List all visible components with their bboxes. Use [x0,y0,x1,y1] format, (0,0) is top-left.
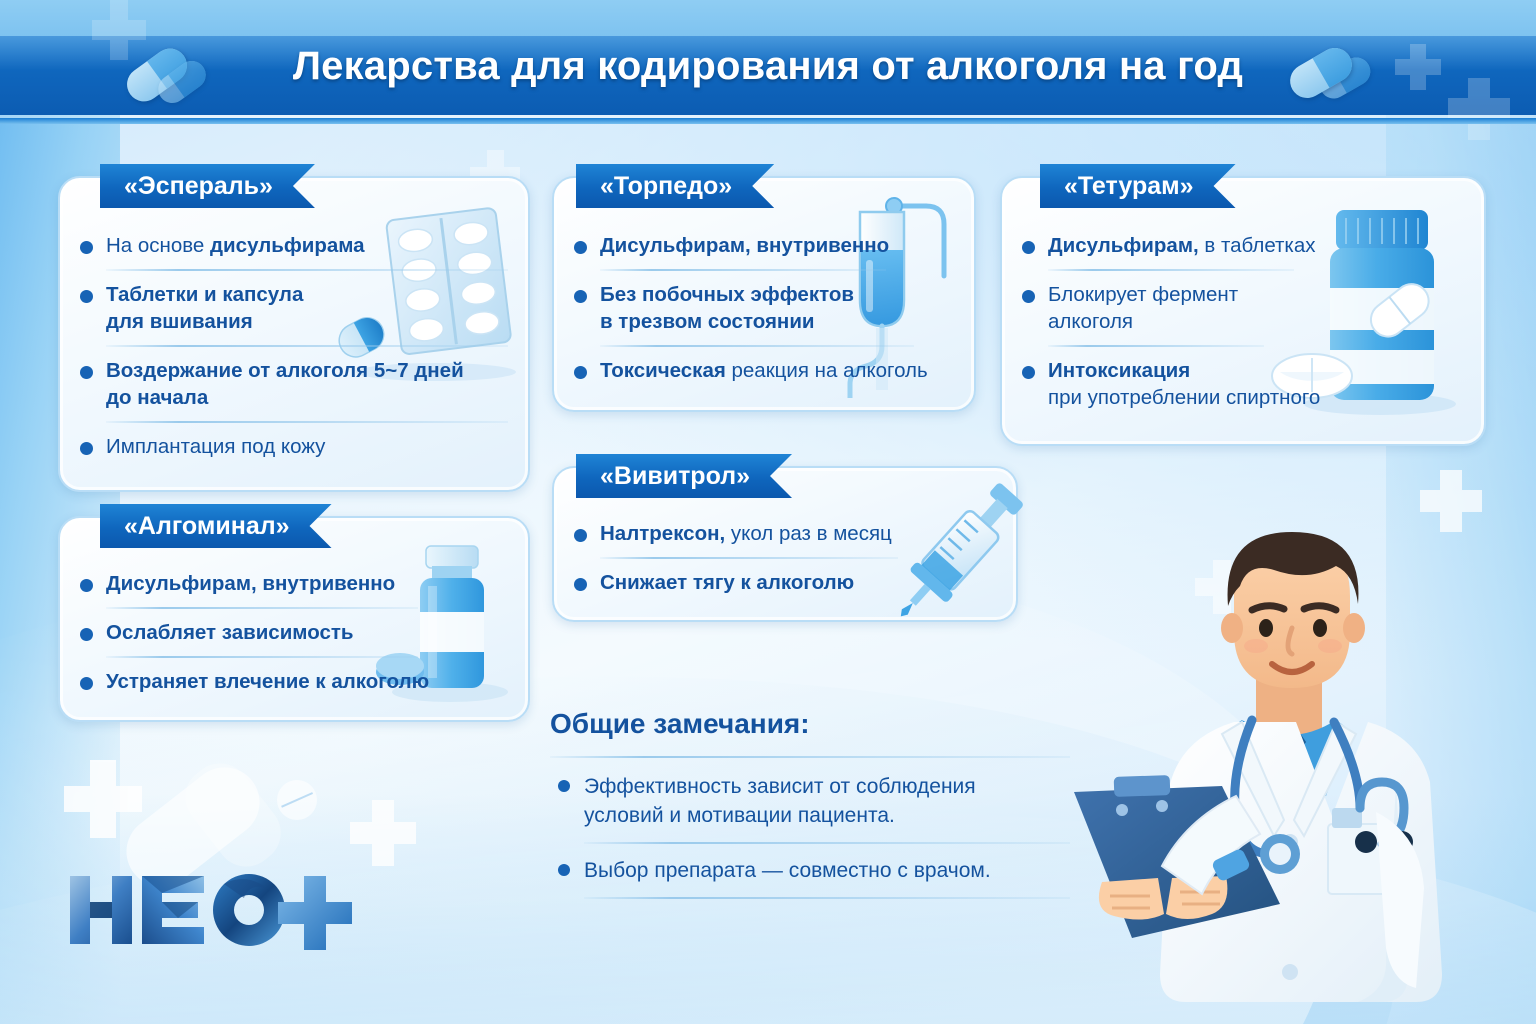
list-item: Интоксикацияпри употреблении спиртного [1002,357,1484,411]
list-item-text: Токсическая реакция на алкоголь [600,359,928,382]
cross-icon [1420,470,1482,532]
list-item: Токсическая реакция на алкоголь [554,357,974,384]
card-esperal: «Эспераль» На основе дисульфирама Таблет… [58,176,530,492]
list-item: Эффективность зависит от соблюденияуслов… [550,772,1070,830]
list-item-text: Снижает тягу к алкоголю [600,571,854,594]
divider [1048,345,1264,347]
bullet-dot [1022,241,1035,254]
cross-icon [350,800,416,866]
notes-item-text: Выбор препарата — совместно с врачом. [584,859,991,882]
divider [106,269,508,271]
card-title-esperal: «Эспераль» [100,164,315,208]
bullet-dot [80,677,93,690]
cross-icon [64,760,142,838]
card-algominal: «Алгоминал» Дисульфирам, внутривенно Осл… [58,516,530,722]
card-title-algominal: «Алгоминал» [100,504,332,548]
list-item-text: Налтрексон, укол раз в месяц [600,522,892,545]
list-item-text: Блокирует ферменталкоголя [1048,281,1258,335]
card-esperal-items: На основе дисульфирама Таблетки и капсул… [60,232,528,460]
divider [584,897,1070,899]
list-item-text: Без побочных эффектовв трезвом состоянии [600,281,860,335]
list-item: Налтрексон, укол раз в месяц [554,520,1016,547]
header-underline [0,118,1536,124]
list-item: Снижает тягу к алкоголю [554,569,1016,596]
notes-item-text: Эффективность зависит от соблюденияуслов… [584,772,1052,830]
list-item-text: На основе дисульфирама [106,234,365,257]
bullet-dot [80,442,93,455]
card-title-vivitrol: «Вивитрол» [576,454,792,498]
list-item: Без побочных эффектовв трезвом состоянии [554,281,974,335]
page-title: Лекарства для кодирования от алкоголя на… [0,44,1536,89]
bullet-dot [80,241,93,254]
list-item-text: Воздержание от алкоголя 5~7 днейдо начал… [106,357,510,411]
divider [584,842,1070,844]
bullet-dot [1022,366,1035,379]
divider [600,345,914,347]
list-item: Блокирует ферменталкоголя [1002,281,1484,335]
bullet-dot [574,241,587,254]
card-vivitrol-items: Налтрексон, укол раз в месяц Снижает тяг… [554,520,1016,596]
card-torpedo: «Торпедо» Дисульфирам, внутривенно Без п… [552,176,976,412]
list-item: Дисульфирам, в таблетках [1002,232,1484,259]
bullet-dot [574,366,587,379]
card-title-torpedo: «Торпедо» [576,164,774,208]
list-item-text: Дисульфирам, внутривенно [600,234,889,257]
list-item-text: Устраняет влечение к алкоголю [106,670,429,693]
divider [550,756,1070,758]
list-item: На основе дисульфирама [60,232,528,259]
general-notes: Общие замечания: Эффективность зависит о… [550,708,1070,899]
bullet-dot [80,366,93,379]
list-item-text: Дисульфирам, в таблетках [1048,234,1316,257]
notes-heading: Общие замечания: [550,708,1070,740]
card-algominal-items: Дисульфирам, внутривенно Ослабляет завис… [60,570,528,695]
bullet-dot [574,529,587,542]
list-item: Дисульфирам, внутривенно [554,232,974,259]
logo-neo-plus [66,868,366,952]
list-item-text: Дисульфирам, внутривенно [106,572,395,595]
divider [106,656,418,658]
list-item: Устраняет влечение к алкоголю [60,668,528,695]
list-item: Имплантация под кожу [60,433,528,460]
list-item-text: Интоксикацияпри употреблении спиртного [1048,357,1466,411]
list-item: Ослабляет зависимость [60,619,528,646]
pill-icon [277,780,317,820]
card-teturam: «Тетурам» Дисульфирам, в таблетках Блоки… [1000,176,1486,446]
header: Лекарства для кодирования от алкоголя на… [0,0,1536,140]
bullet-dot [80,290,93,303]
divider [106,345,508,347]
bullet-dot [1022,290,1035,303]
bullet-dot [558,780,570,792]
divider [600,269,886,271]
bullet-dot [558,864,570,876]
card-torpedo-items: Дисульфирам, внутривенно Без побочных эф… [554,232,974,384]
bullet-dot [574,290,587,303]
list-item-text: Таблетки и капсуладля вшивания [106,281,356,335]
bullet-dot [574,578,587,591]
card-teturam-items: Дисульфирам, в таблетках Блокирует ферме… [1002,232,1484,411]
list-item: Выбор препарата — совместно с врачом. [550,856,1070,885]
bullet-dot [80,579,93,592]
list-item-text: Имплантация под кожу [106,435,325,458]
header-top-strip [0,0,1536,36]
divider [106,421,508,423]
list-item: Дисульфирам, внутривенно [60,570,528,597]
divider [1048,269,1294,271]
list-item: Воздержание от алкоголя 5~7 днейдо начал… [60,357,528,411]
divider [106,607,418,609]
doctor-with-clipboard-illustration [1066,524,1536,1024]
infographic-poster: Лекарства для кодирования от алкоголя на… [0,0,1536,1024]
card-vivitrol: «Вивитрол» Налтрексон, укол раз в месяц … [552,466,1018,622]
list-item: Таблетки и капсуладля вшивания [60,281,528,335]
card-title-teturam: «Тетурам» [1040,164,1236,208]
divider [600,557,898,559]
bullet-dot [80,628,93,641]
list-item-text: Ослабляет зависимость [106,621,354,644]
